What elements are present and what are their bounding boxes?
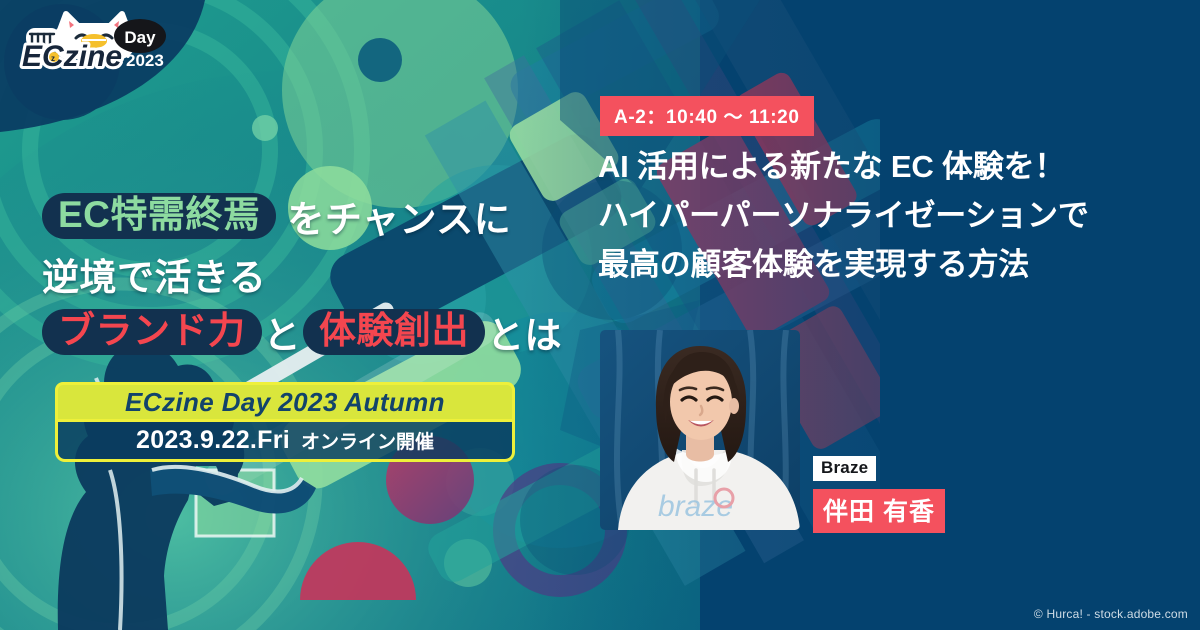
event-banner: ECzine Day 2023 Autumn 2023.9.22.Fri オンラ… bbox=[55, 382, 515, 462]
svg-text:ECzine: ECzine bbox=[22, 40, 122, 70]
headline-line-3: ブランド力 と 体験創出 とは bbox=[42, 304, 562, 360]
headline-highlight-3: 体験創出 bbox=[303, 309, 485, 355]
session-title-line-1: AI 活用による新たな EC 体験を！ bbox=[598, 142, 1178, 191]
event-mode-text: オンライン開催 bbox=[301, 427, 434, 454]
session-title-line-3: 最高の顧客体験を実現する方法 bbox=[598, 240, 1178, 289]
speaker-company-badge: Braze bbox=[813, 456, 876, 481]
headline-line-2-text: 逆境で活きる bbox=[42, 247, 266, 301]
svg-text:Day: Day bbox=[124, 28, 156, 47]
headline-line-1-rest: をチャンスに bbox=[287, 189, 511, 243]
session-time-text: A-2：10:40 〜 11:20 bbox=[614, 107, 800, 128]
headline-line-3-mid: と bbox=[264, 305, 302, 359]
eczine-day-logo[interactable]: ECzine ECzine z Day 2023 bbox=[14, 8, 174, 70]
speaker-company-text: Braze bbox=[821, 458, 868, 477]
image-credit: © Hurca! - stock.adobe.com bbox=[1034, 607, 1188, 621]
eczine-wordmark: ECzine ECzine z bbox=[22, 40, 122, 70]
poster-canvas: ECzine ECzine z Day 2023 EC特需終焉 をチャンスに 逆… bbox=[0, 0, 1200, 630]
headline-highlight-1-text: EC特需終焉 bbox=[58, 194, 260, 235]
speaker-name-badge: 伴田 有香 bbox=[813, 489, 945, 533]
main-headline: EC特需終焉 をチャンスに 逆境で活きる ブランド力 と 体験創出 とは bbox=[42, 188, 562, 360]
session-title: AI 活用による新たな EC 体験を！ ハイパーパーソナライゼーションで 最高の… bbox=[598, 142, 1178, 289]
headline-highlight-2: ブランド力 bbox=[42, 309, 262, 355]
event-date-text: 2023.9.22.Fri bbox=[136, 426, 290, 455]
session-title-line-2: ハイパーパーソナライゼーションで bbox=[598, 191, 1178, 240]
svg-text:z: z bbox=[51, 54, 55, 63]
event-date-bar: 2023.9.22.Fri オンライン開催 bbox=[55, 422, 515, 462]
headline-line-1: EC特需終焉 をチャンスに bbox=[42, 188, 562, 244]
svg-text:2023: 2023 bbox=[126, 51, 164, 70]
event-name-bar: ECzine Day 2023 Autumn bbox=[55, 382, 515, 422]
day-badge: Day bbox=[114, 19, 166, 53]
speaker-name-text: 伴田 有香 bbox=[823, 498, 935, 526]
headline-highlight-1: EC特需終焉 bbox=[42, 193, 276, 239]
headline-highlight-3-text: 体験創出 bbox=[319, 310, 469, 351]
headline-highlight-2-text: ブランド力 bbox=[58, 310, 246, 351]
speaker-photo: braze bbox=[600, 330, 800, 530]
session-time-badge: A-2：10:40 〜 11:20 bbox=[600, 96, 814, 136]
event-name-text: ECzine Day 2023 Autumn bbox=[125, 387, 445, 418]
headline-line-2: 逆境で活きる bbox=[42, 246, 562, 302]
headline-line-3-rest: とは bbox=[487, 305, 562, 359]
